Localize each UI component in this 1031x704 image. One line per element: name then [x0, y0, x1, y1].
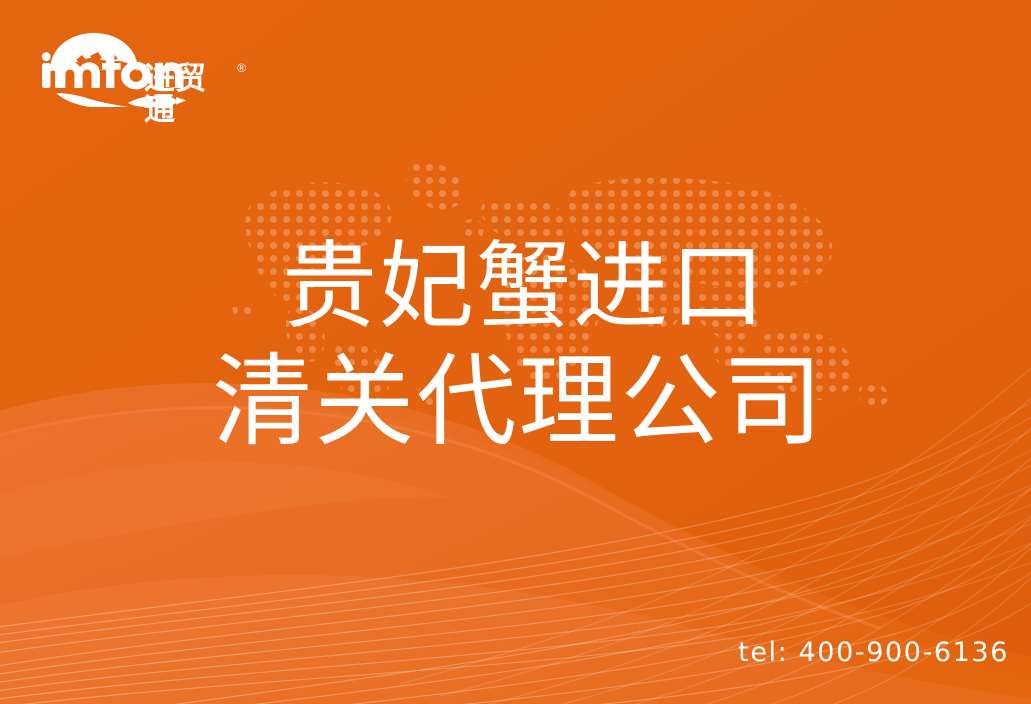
promo-banner: 进贸通 ® 贵妃蟹进口 清关代理公司 tel: 400-900-6136 [0, 0, 1031, 704]
registered-trademark-icon: ® [237, 62, 246, 74]
brand-chinese-name-group: 进贸通 ® [144, 64, 246, 126]
brand-chinese-name: 进贸通 [144, 64, 236, 126]
brand-logo[interactable]: 进贸通 ® [36, 27, 246, 107]
dotted-world-map [228, 148, 908, 410]
contact-telephone[interactable]: tel: 400-900-6136 [738, 637, 1009, 668]
